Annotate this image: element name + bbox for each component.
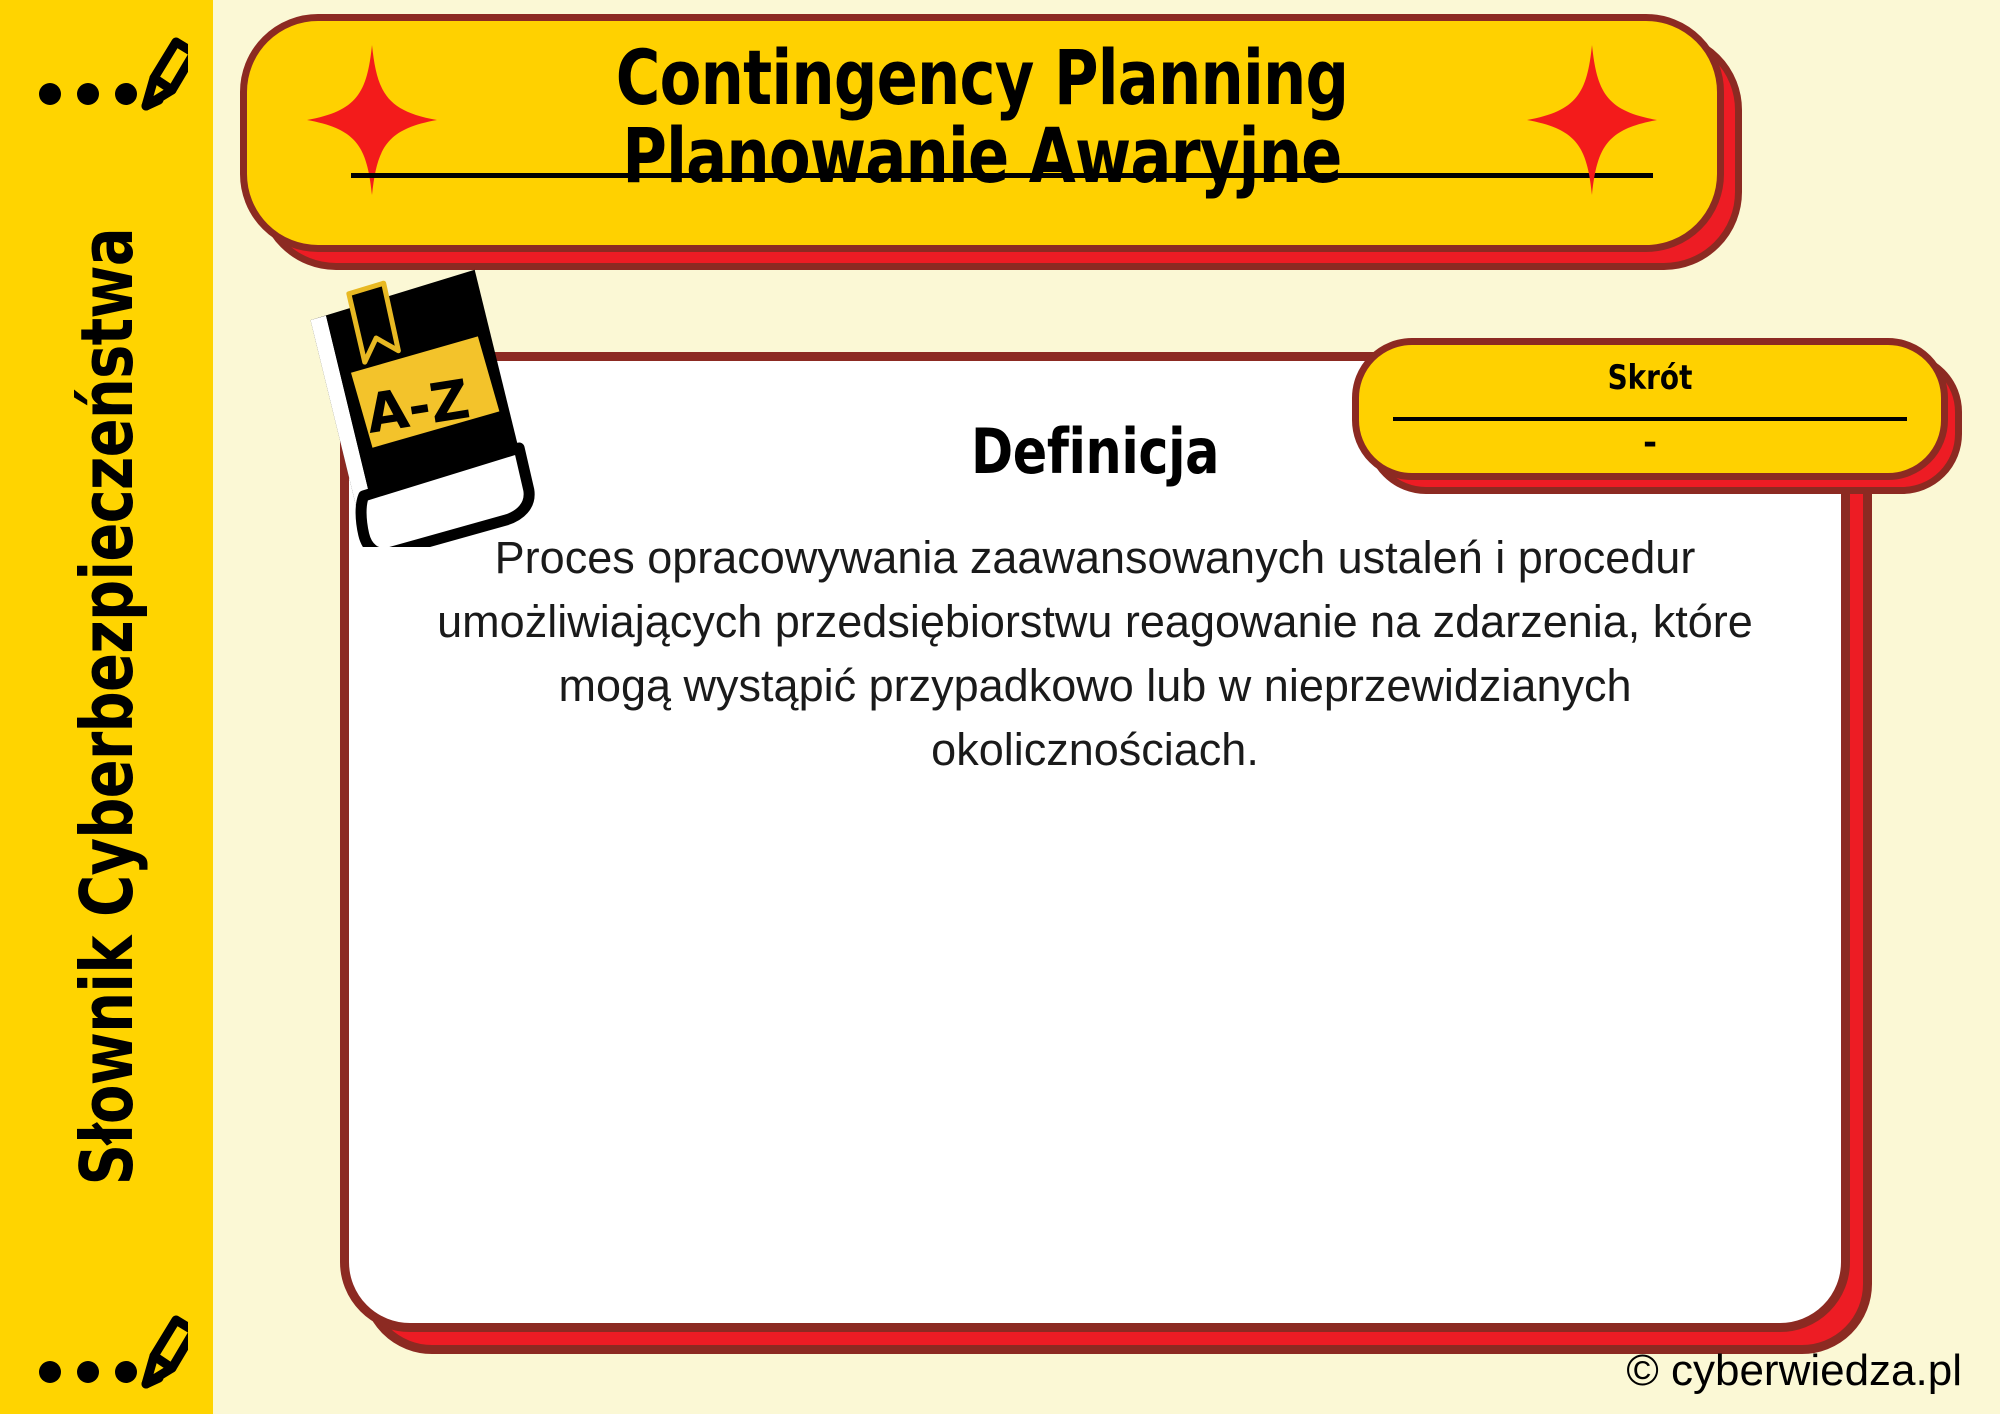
abbreviation-badge-panel: Skrót -	[1352, 338, 1948, 480]
title-text-group: Contingency Planning Planowanie Awaryjne	[367, 39, 1597, 194]
pencil-dots-icon-bottom	[28, 1300, 188, 1410]
sparkle-icon-right	[1527, 45, 1657, 195]
title-polish: Planowanie Awaryjne	[490, 117, 1474, 195]
sidebar-title-text: Słownik Cyberbezpieczeństwa	[71, 228, 143, 1185]
abbreviation-divider	[1393, 417, 1907, 421]
abbreviation-value: -	[1359, 423, 1941, 463]
sidebar-title: Słownik Cyberbezpieczeństwa	[0, 0, 213, 1414]
footer-copyright: © cyberwiedza.pl	[1626, 1346, 1962, 1396]
sidebar: Słownik Cyberbezpieczeństwa	[0, 0, 213, 1414]
title-english: Contingency Planning	[490, 39, 1474, 117]
title-banner: Contingency Planning Planowanie Awaryjne	[240, 14, 1724, 252]
title-banner-panel: Contingency Planning Planowanie Awaryjne	[240, 14, 1724, 252]
definition-card-panel: Definicja Proces opracowywania zaawansow…	[340, 352, 1850, 1332]
title-divider	[351, 173, 1653, 178]
definition-body-text: Proces opracowywania zaawansowanych usta…	[429, 526, 1761, 782]
abbreviation-label: Skrót	[1411, 358, 1888, 398]
abbreviation-badge: Skrót -	[1352, 338, 1948, 480]
definition-card: Definicja Proces opracowywania zaawansow…	[340, 352, 1850, 1332]
book-az-icon: A-Z	[295, 262, 545, 547]
